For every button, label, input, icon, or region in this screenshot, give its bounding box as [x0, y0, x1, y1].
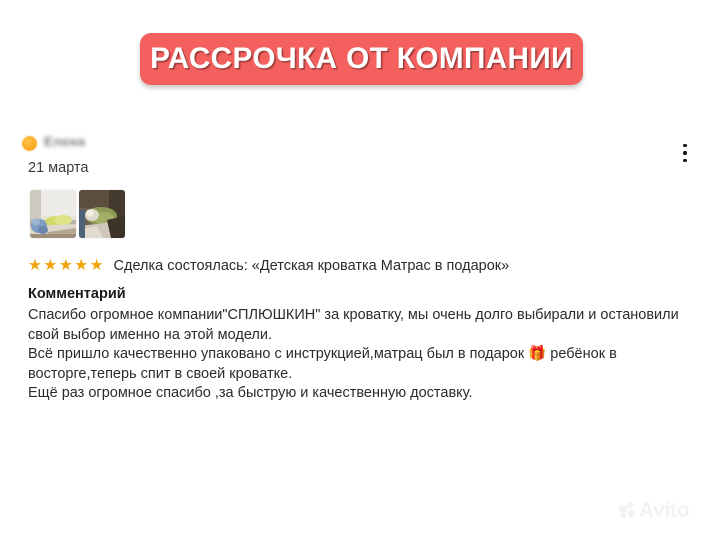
comment-body: Спасибо огромное компании"СПЛЮШКИН" за к… [28, 306, 700, 404]
author-name[interactable]: Елена [44, 134, 86, 149]
star-icon: ★ [28, 258, 42, 274]
avito-logo-icon [619, 502, 636, 519]
comment-line: Ещё раз огромное спасибо ,за быструю и к… [28, 384, 700, 404]
review-photo-thumbnail[interactable] [79, 190, 125, 238]
deal-text: Сделка состоялась: «Детская кроватка Мат… [114, 258, 510, 274]
star-icon: ★ [59, 258, 73, 274]
avito-watermark: Avito [619, 500, 689, 521]
review-photo-thumbnail[interactable] [30, 190, 76, 238]
review-date: 21 марта [28, 160, 88, 176]
review-header: Елена [22, 133, 698, 157]
star-icon: ★ [90, 258, 104, 274]
star-rating: ★ ★ ★ ★ ★ [28, 258, 104, 274]
crib-photo-2 [79, 190, 125, 238]
comment-line: Всё пришло качественно упаковано с инстр… [28, 345, 700, 365]
comment-line: Спасибо огромное компании"СПЛЮШКИН" за к… [28, 306, 700, 326]
promo-banner: РАССРОЧКА ОТ КОМПАНИИ [140, 33, 583, 85]
rating-row: ★ ★ ★ ★ ★ Сделка состоялась: «Детская кр… [28, 256, 509, 276]
kebab-dot [683, 151, 686, 154]
promo-banner-text: РАССРОЧКА ОТ КОМПАНИИ [150, 44, 573, 74]
kebab-dot [683, 159, 686, 162]
avatar[interactable] [22, 136, 37, 151]
crib-photo-1 [30, 190, 76, 238]
comment-heading: Комментарий [28, 286, 126, 302]
deal-label: Сделка состоялась: [114, 258, 248, 274]
kebab-menu-icon[interactable] [677, 143, 693, 163]
screenshot-root: РАССРОЧКА ОТ КОМПАНИИ Елена 21 марта [0, 0, 720, 540]
star-icon: ★ [74, 258, 88, 274]
star-icon: ★ [43, 258, 57, 274]
comment-line: свой выбор именно на этой модели. [28, 326, 700, 346]
deal-item: «Детская кроватка Матрас в подарок» [252, 258, 509, 274]
avito-watermark-text: Avito [639, 500, 689, 521]
photo-strip [30, 190, 125, 238]
comment-line: восторге,теперь спит в своей кроватке. [28, 365, 700, 385]
kebab-dot [683, 144, 686, 147]
